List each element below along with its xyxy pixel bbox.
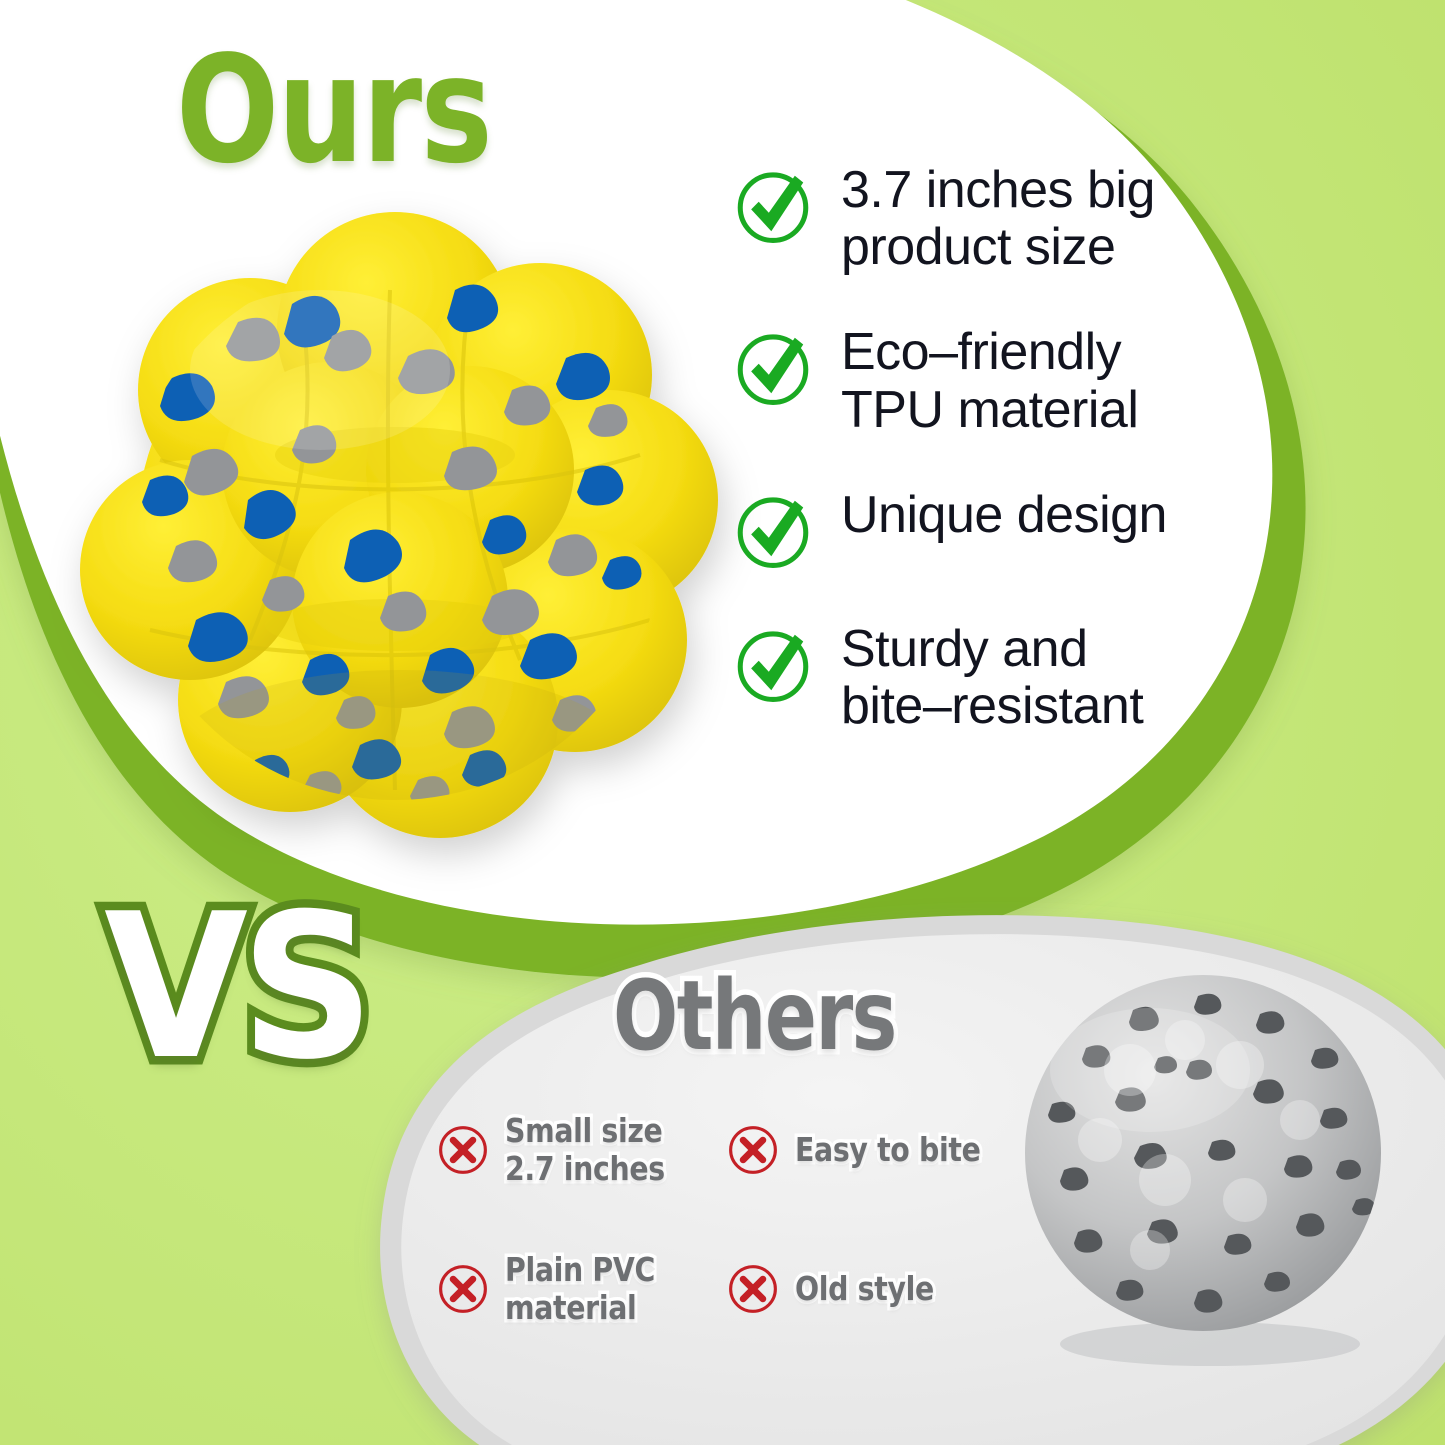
ours-title: Ours — [176, 36, 491, 184]
green-check-circle-icon — [731, 164, 815, 248]
infographic-canvas: Ours VS Others 3.7 inches big product si… — [0, 0, 1445, 1445]
drawback-row: Small size 2.7 inches Easy to bite — [437, 1112, 1017, 1189]
drawback-label: Small size 2.7 inches — [505, 1112, 665, 1189]
feature-item: Sturdy and bite–resistant — [731, 619, 1201, 735]
vs-label: VS — [104, 888, 367, 1088]
green-check-circle-icon — [731, 489, 815, 573]
feature-label: Unique design — [841, 485, 1167, 544]
red-x-circle-icon — [437, 1124, 489, 1176]
drawback-item: Easy to bite — [727, 1124, 1011, 1176]
green-check-circle-icon — [731, 326, 815, 410]
others-drawback-list: Small size 2.7 inches Easy to bite — [437, 1112, 1017, 1327]
red-x-circle-icon — [727, 1263, 779, 1315]
drawback-row: Plain PVC material Old style — [437, 1251, 1017, 1328]
drawback-item: Old style — [727, 1263, 957, 1315]
ours-feature-list: 3.7 inches big product size Eco–friendly… — [731, 160, 1201, 735]
drawback-item: Small size 2.7 inches — [437, 1112, 727, 1189]
drawback-label: Easy to bite — [795, 1131, 980, 1169]
feature-item: Unique design — [731, 485, 1201, 573]
feature-label: Eco–friendly TPU material — [841, 322, 1138, 438]
red-x-circle-icon — [727, 1124, 779, 1176]
feature-item: 3.7 inches big product size — [731, 160, 1201, 276]
green-check-circle-icon — [731, 623, 815, 707]
feature-label: 3.7 inches big product size — [841, 160, 1155, 276]
drawback-item: Plain PVC material — [437, 1251, 727, 1328]
feature-label: Sturdy and bite–resistant — [841, 619, 1143, 735]
feature-item: Eco–friendly TPU material — [731, 322, 1201, 438]
drawback-label: Plain PVC material — [505, 1251, 655, 1328]
red-x-circle-icon — [437, 1263, 489, 1315]
drawback-label: Old style — [795, 1270, 934, 1308]
others-title: Others — [613, 968, 896, 1064]
